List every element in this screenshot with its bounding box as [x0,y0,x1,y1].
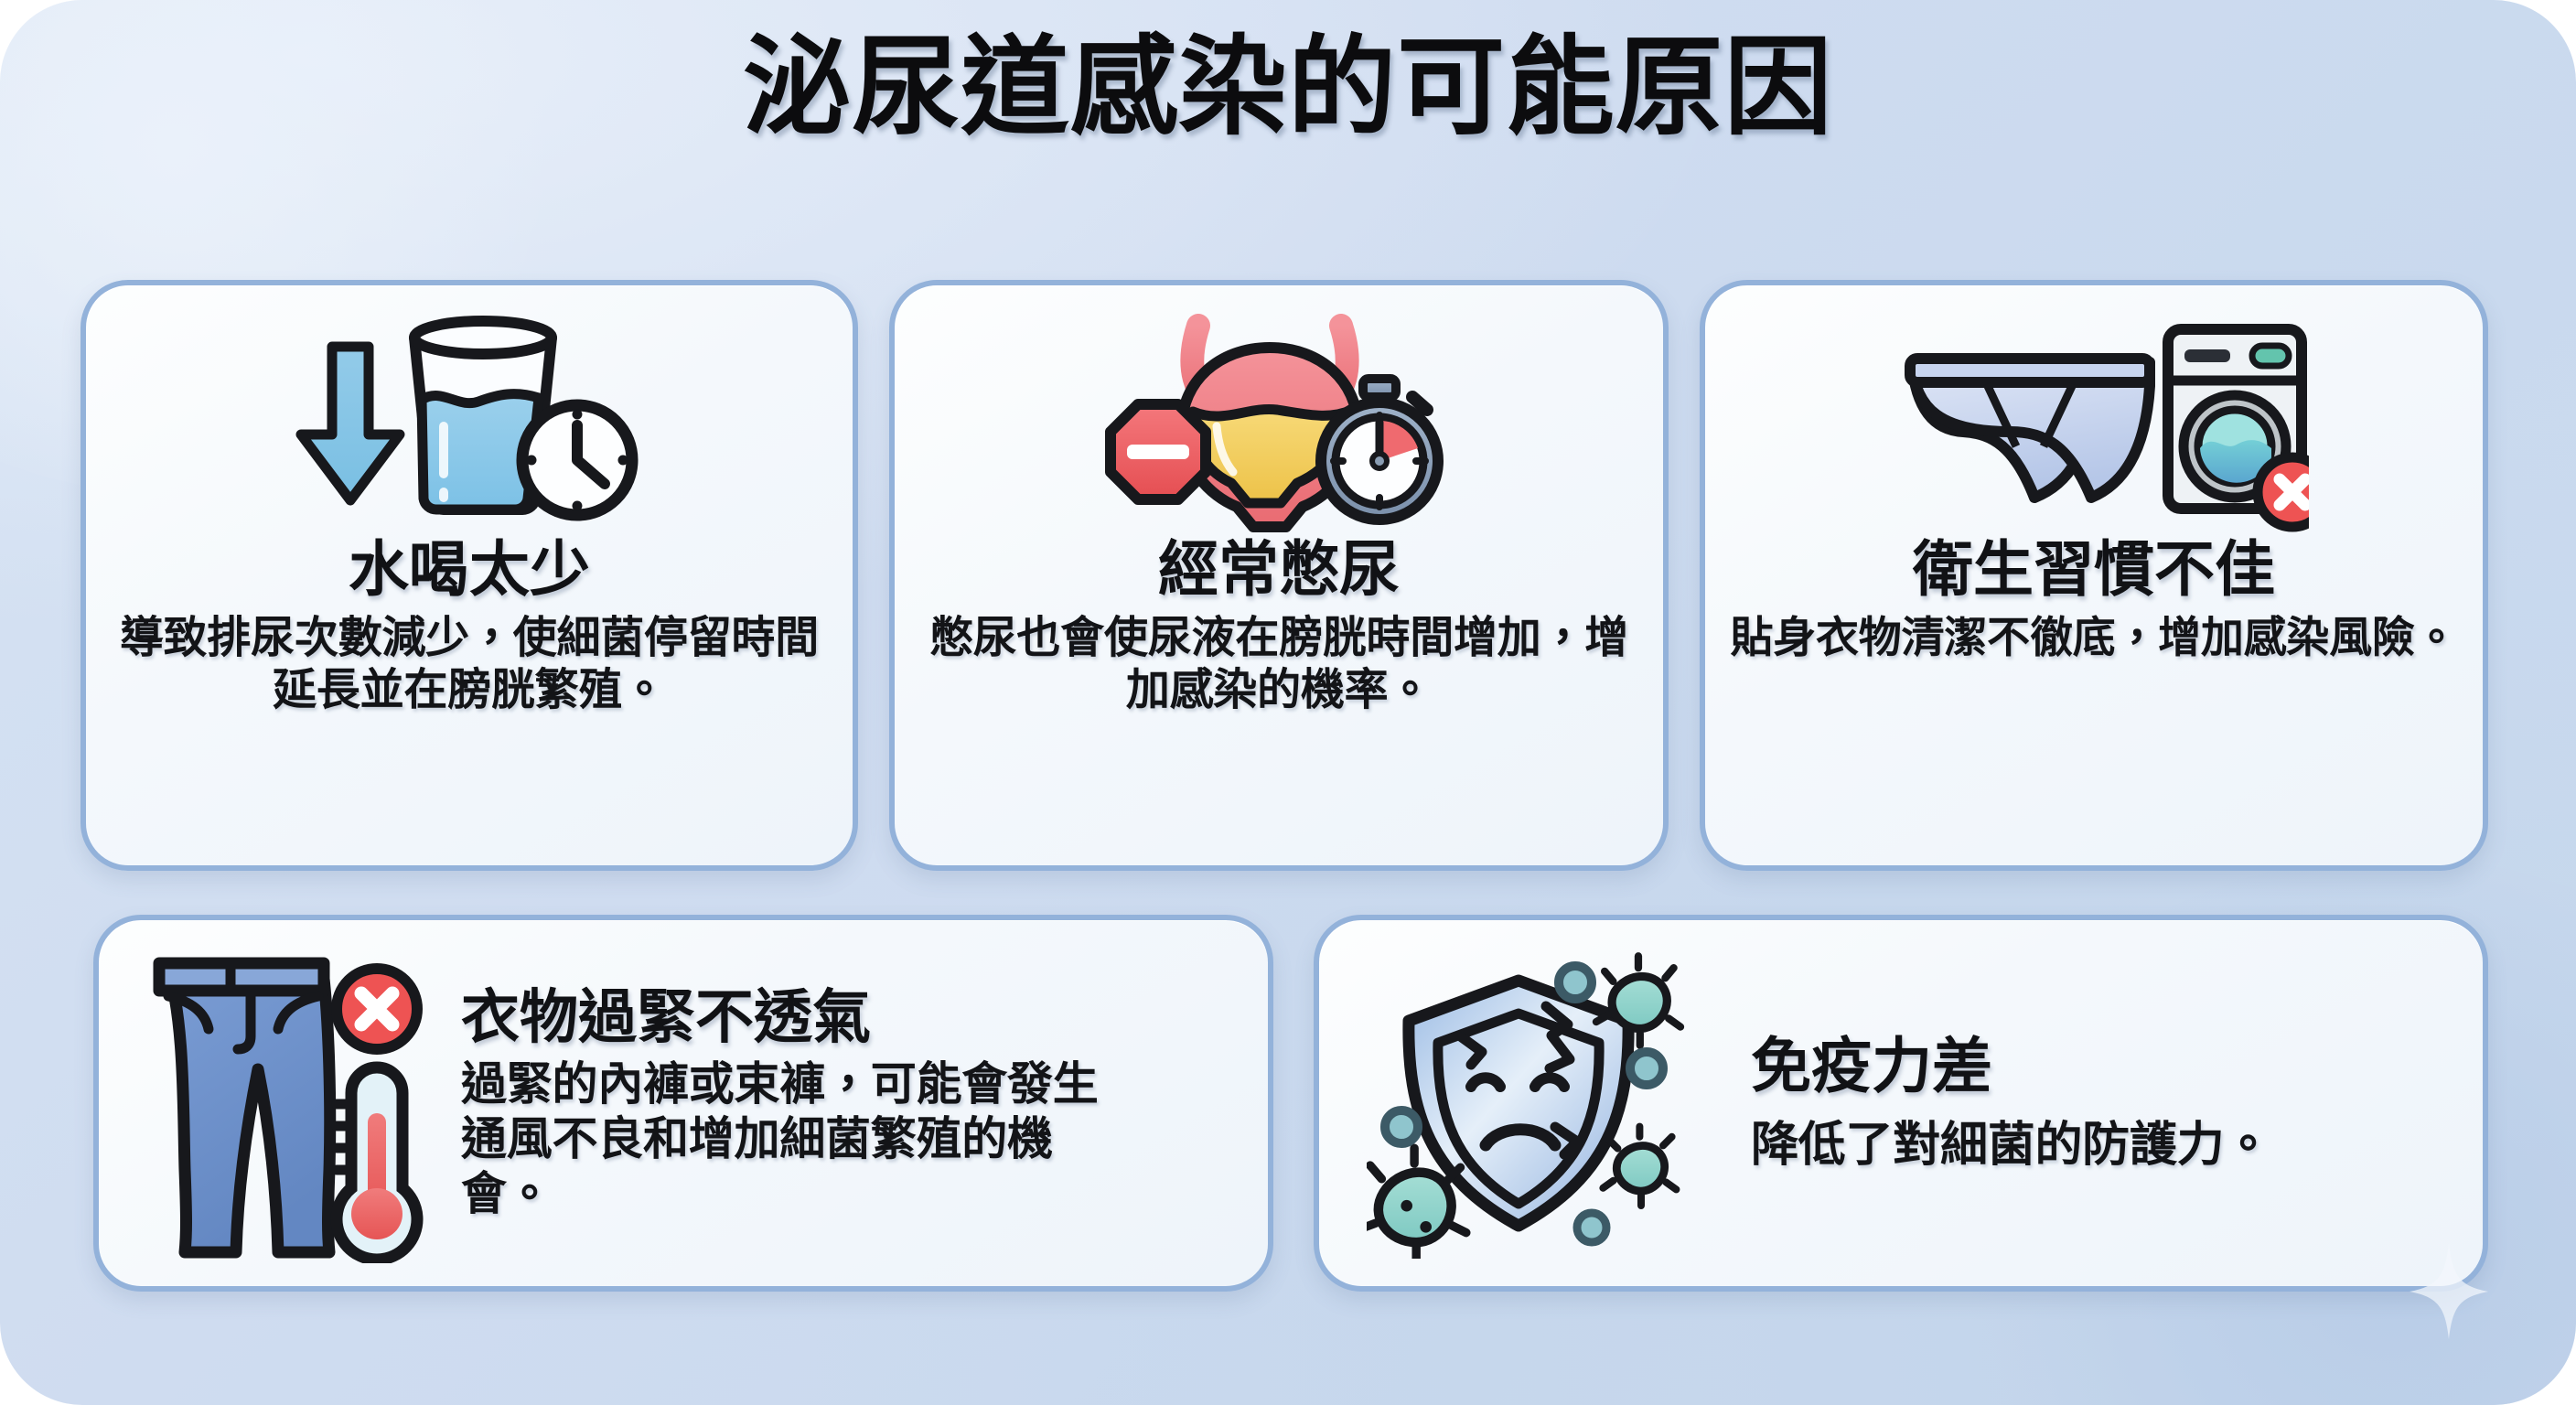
down-arrow-icon [301,347,400,500]
card-title: 衣物過緊不透氣 [461,985,871,1051]
jeans-icon [123,943,424,1263]
card-body: 降低了對細菌的防護力。 [1751,1117,2271,1174]
card-copy: 經常憋尿 憋尿也會使尿液在膀胱時間增加，增加感染的機率。 [911,532,1647,717]
icon-group-water-glass [295,309,643,532]
card-title: 經常憋尿 [1158,536,1400,603]
red-x-badge-icon [337,969,417,1049]
card-body: 導致排尿次數減少，使細菌停留時間延長並在膀胱繁殖。 [103,612,835,717]
card-title: 水喝太少 [349,536,590,603]
icon-group-bladder-timer [1096,309,1462,532]
card-title: 衛生習慣不佳 [1913,536,2275,603]
cracked-shield-sad-icon [1367,948,1687,1259]
card-copy: 水喝太少 導致排尿次數減少，使細菌停留時間延長並在膀胱繁殖。 [102,532,836,717]
germ-dot-icon [1559,966,1592,999]
water-glass-icon [295,312,643,530]
cause-card-holding-urine[interactable]: 經常憋尿 憋尿也會使尿液在膀胱時間增加，增加感染的機率。 [889,280,1669,871]
card-body: 憋尿也會使尿液在膀胱時間增加，增加感染的機率。 [913,612,1645,717]
poster-root: 泌尿道感染的可能原因 [0,0,2576,1405]
icon-group-shield-germs [1367,948,1687,1259]
card-title: 免疫力差 [1751,1033,1992,1100]
card-copy: 免疫力差 降低了對細菌的防護力。 [1751,1033,2459,1174]
germ-dot-icon [1577,1213,1606,1242]
underwear-icon [1879,309,2309,532]
icon-group-jeans-thermometer [123,943,424,1263]
no-entry-icon [1111,404,1206,499]
card-copy: 衣物過緊不透氣 過緊的內褲或束褲，可能會發生通風不良和增加細菌繁殖的機會。 [461,985,1244,1221]
card-body: 過緊的內褲或束褲，可能會發生通風不良和增加細菌繁殖的機會。 [461,1056,1101,1221]
icon-group-underwear-washer [1879,309,2309,532]
red-x-badge-icon [2258,457,2309,527]
cause-card-low-water-intake[interactable]: 水喝太少 導致排尿次數減少，使細菌停留時間延長並在膀胱繁殖。 [80,280,858,871]
thermometer-icon [337,1067,417,1260]
cause-card-tight-clothing[interactable]: 衣物過緊不透氣 過緊的內褲或束褲，可能會發生通風不良和增加細菌繁殖的機會。 [93,915,1273,1292]
germ-dot-icon [1385,1110,1418,1143]
card-copy: 衛生習慣不佳 貼身衣物清潔不徹底，增加感染風險。 [1722,532,2466,663]
germ-dot-icon [1630,1052,1663,1085]
bladder-icon [1096,309,1462,532]
clock-icon [522,405,632,515]
card-body: 貼身衣物清潔不徹底，增加感染風險。 [1730,612,2457,663]
jeans-shape [159,963,330,1252]
cause-card-poor-hygiene[interactable]: 衛生習慣不佳 貼身衣物清潔不徹底，增加感染風險。 [1700,280,2488,871]
cause-card-weak-immunity[interactable]: 免疫力差 降低了對細菌的防護力。 [1314,915,2488,1292]
page-title: 泌尿道感染的可能原因 [0,31,2576,145]
